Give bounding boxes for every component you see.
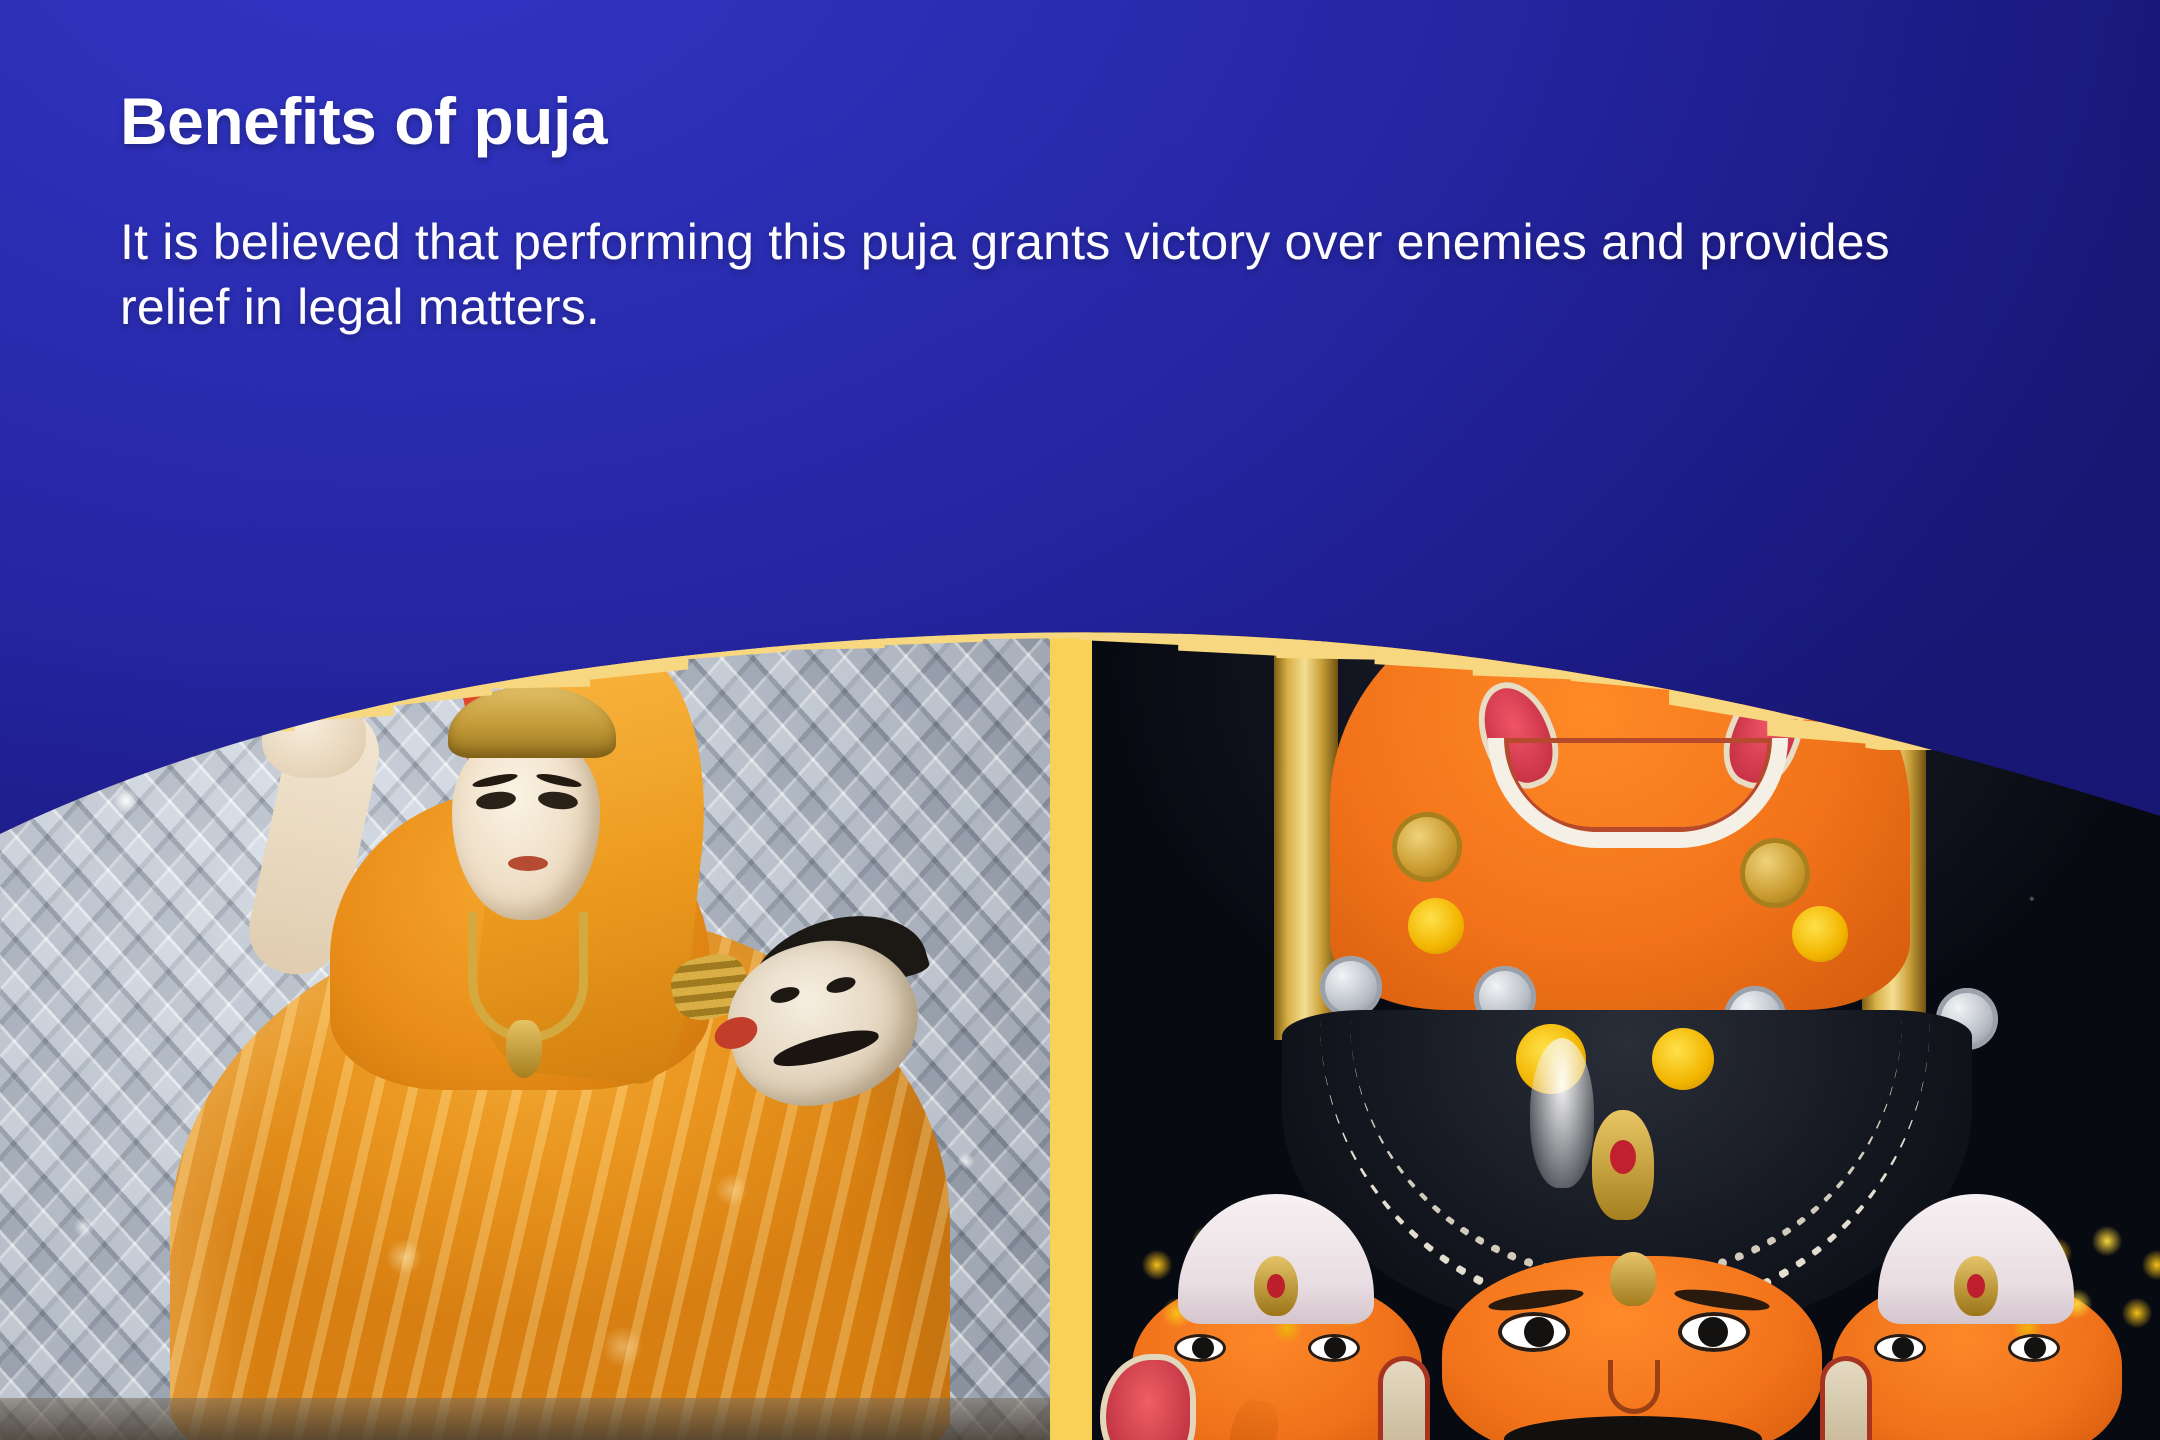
crown-gem-left	[1254, 1256, 1298, 1316]
idol-face	[452, 730, 600, 920]
center-pupil-right	[1698, 1317, 1728, 1347]
scallop-arch	[1473, 620, 1571, 660]
center-nose	[1608, 1360, 1660, 1414]
scallop-arch	[1964, 695, 2062, 750]
center-brow-left	[1487, 1285, 1584, 1314]
forehead-tilak	[1610, 1252, 1656, 1306]
center-moustache	[1504, 1416, 1762, 1440]
scallop-arch	[196, 657, 294, 731]
ganesha-face	[1132, 1280, 1422, 1440]
scallop-arch	[491, 620, 589, 673]
photo-row	[0, 620, 2160, 1440]
white-plume	[1530, 1038, 1594, 1188]
central-deity-face	[1442, 1256, 1822, 1440]
scallop-arch	[98, 692, 196, 750]
scallop-arch	[2062, 735, 2160, 750]
page-subtitle: It is believed that performing this puja…	[120, 210, 1940, 340]
scallop-arch	[393, 620, 491, 690]
page-title: Benefits of puja	[120, 88, 2000, 154]
pendant-ornament	[506, 1020, 542, 1078]
scallop-arch	[982, 620, 1080, 623]
photo-band	[0, 620, 2160, 1440]
scallop-arch	[884, 620, 982, 629]
scallop-arch	[1178, 620, 1276, 635]
scallop-arch	[295, 632, 393, 706]
text-block: Benefits of puja It is believed that per…	[120, 88, 2000, 340]
marigold-flower-2	[1792, 906, 1848, 962]
scallop-arch	[1375, 620, 1473, 648]
scallop-arch	[785, 620, 883, 634]
idol-lips	[508, 856, 548, 871]
center-brow-right	[1673, 1285, 1770, 1314]
gold-medallion-1	[1392, 812, 1462, 882]
marigold-flower-1	[1408, 898, 1464, 954]
ganesha-pupil-right	[1324, 1337, 1346, 1359]
floor-strip	[0, 1398, 1050, 1440]
ganesha-trunk	[1219, 1396, 1284, 1440]
side-ornament-left	[1378, 1356, 1430, 1440]
scallop-arch	[1080, 620, 1178, 624]
center-jewel-pendant	[1592, 1110, 1654, 1220]
right-pupil-right	[2024, 1337, 2046, 1359]
slide-canvas: Benefits of puja It is believed that per…	[0, 0, 2160, 1440]
right-pupil-left	[1892, 1337, 1914, 1359]
side-ornament-right	[1820, 1356, 1872, 1440]
silver-medallion-1	[1320, 956, 1382, 1018]
gold-medallion-2	[1740, 838, 1810, 908]
gold-divider	[1050, 620, 1092, 1440]
scallop-arch	[0, 741, 98, 750]
center-pupil-left	[1524, 1317, 1554, 1347]
ganesha-pupil-left	[1192, 1337, 1214, 1359]
scallop-arch	[1276, 620, 1374, 642]
scallop-arch	[1767, 646, 1865, 720]
photo-temple-deities	[1092, 620, 2160, 1440]
scallop-arch	[687, 620, 785, 643]
scallop-arch	[1669, 620, 1767, 689]
raised-hand	[262, 692, 366, 778]
scallop-arch	[1865, 658, 1963, 732]
crown-gem-right	[1954, 1256, 1998, 1316]
scallop-arch	[1571, 620, 1669, 665]
photo-band-arch-clip	[0, 620, 2160, 1440]
photo-goddess-idol	[0, 620, 1050, 1440]
right-deity-face	[1832, 1280, 2122, 1440]
